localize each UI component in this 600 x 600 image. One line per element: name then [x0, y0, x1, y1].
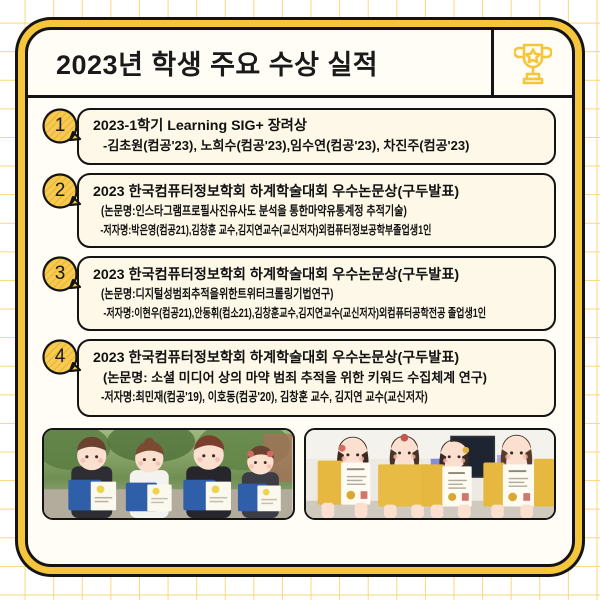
award-item: 3 2023 한국컴퓨터정보학회 하계학술대회 우수논문상(구두발표) (논문명… [42, 256, 556, 331]
award-content: 2023 한국컴퓨터정보학회 하계학술대회 우수논문상(구두발표) (논문명:인… [77, 173, 556, 248]
award-number-bubble: 4 [42, 339, 82, 379]
award-detail: -김초원(컴공'23), 노희수(컴공'23),임수연(컴공'23), 차진주(… [93, 137, 542, 155]
photo-outdoor-four-students-with-blue-certificates [42, 428, 295, 520]
trophy-icon [514, 41, 552, 85]
award-title: 2023 한국컴퓨터정보학회 하계학술대회 우수논문상(구두발표) [93, 265, 542, 285]
award-item: 1 2023-1학기 Learning SIG+ 장려상 -김초원(컴공'23)… [42, 108, 556, 165]
award-number-bubble: 3 [42, 256, 82, 296]
award-title: 2023 한국컴퓨터정보학회 하계학술대회 우수논문상(구두발표) [93, 348, 542, 368]
award-title: 2023-1학기 Learning SIG+ 장려상 [93, 116, 542, 136]
award-authors: -저자명:최민재(컴공'19), 이호동(컴공'20), 김창훈 교수, 김지연… [93, 389, 542, 407]
award-item: 2 2023 한국컴퓨터정보학회 하계학술대회 우수논문상(구두발표) (논문명… [42, 173, 556, 248]
award-authors: -저자명:이현우(컴공21),안동휘(컴소21),김창훈교수,김지연교수(교신저… [93, 305, 542, 322]
award-card: 2023년 학생 주요 수상 실적 [25, 27, 575, 567]
awards-list: 1 2023-1학기 Learning SIG+ 장려상 -김초원(컴공'23)… [28, 98, 572, 417]
award-paper-name: (논문명: 소셜 미디어 상의 마약 범죄 추적을 위한 키워드 수집체계 연구… [93, 369, 542, 387]
page-title: 2023년 학생 주요 수상 실적 [56, 43, 378, 82]
trophy-icon-container [494, 30, 572, 95]
photo-gallery [28, 425, 572, 520]
award-content: 2023 한국컴퓨터정보학회 하계학술대회 우수논문상(구두발표) (논문명: … [77, 339, 556, 416]
award-item: 4 2023 한국컴퓨터정보학회 하계학술대회 우수논문상(구두발표) (논문명… [42, 339, 556, 416]
page-title-container: 2023년 학생 주요 수상 실적 [28, 30, 491, 95]
award-content: 2023-1학기 Learning SIG+ 장려상 -김초원(컴공'23), … [77, 108, 556, 165]
award-number-bubble: 1 [42, 108, 82, 148]
award-paper-name: (논문명:디지털성범죄추적을위한트위터크롤링기법연구) [93, 286, 542, 304]
photo-indoor-four-students-with-gold-certificates [304, 428, 557, 520]
award-authors: -저자명:박은영(컴공21),김창훈 교수,김지연교수(교신저자)외컴퓨터정보공… [93, 222, 542, 239]
award-paper-name: (논문명:인스타그램프로필사진유사도 분석을 통한마약유통계정 추적기술) [93, 203, 542, 221]
award-title: 2023 한국컴퓨터정보학회 하계학술대회 우수논문상(구두발표) [93, 182, 542, 202]
award-content: 2023 한국컴퓨터정보학회 하계학술대회 우수논문상(구두발표) (논문명:디… [77, 256, 556, 331]
card-header: 2023년 학생 주요 수상 실적 [28, 30, 572, 98]
award-number-bubble: 2 [42, 173, 82, 213]
